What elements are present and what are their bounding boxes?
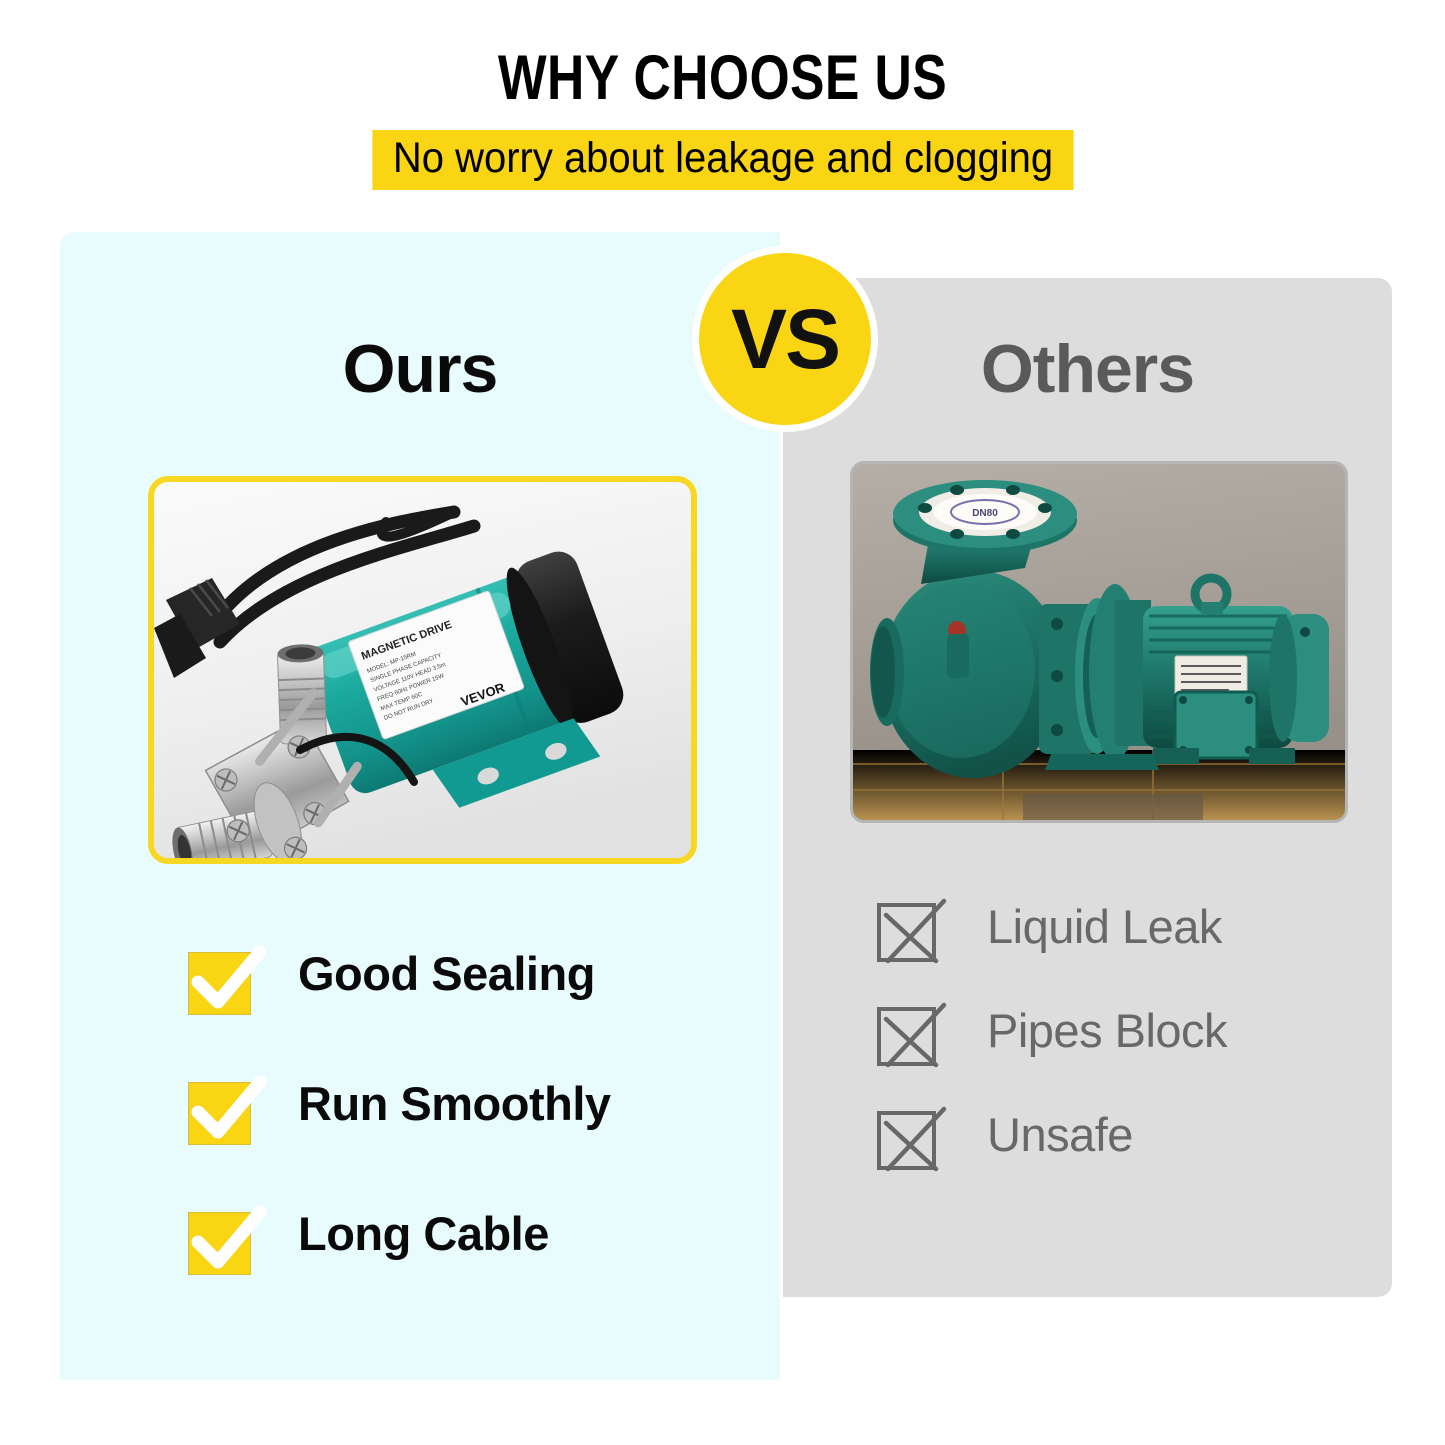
features-list-ours: Good Sealing Run Smoothly Long Cable [188,952,748,1342]
svg-text:DN80: DN80 [972,508,998,519]
features-list-others: Liquid Leak Pipes Block Unsafe [877,903,1337,1215]
list-item: Run Smoothly [188,1082,748,1212]
feature-label: Good Sealing [298,946,595,1001]
vs-badge: VS [692,246,878,432]
check-box-background [188,952,251,1015]
centrifugal-pump-illustration: DN80 [853,464,1345,820]
list-item: Pipes Block [877,1007,1337,1111]
list-item: Good Sealing [188,952,748,1082]
list-item: Unsafe [877,1111,1337,1215]
subtitle-container: No worry about leakage and clogging [0,130,1445,190]
feature-label: Long Cable [298,1206,549,1261]
product-photo-ours: MAGNETIC DRIVE MODEL: MP-15RM SINGLE PHA… [148,476,697,864]
list-item: Long Cable [188,1212,748,1342]
feature-label: Run Smoothly [298,1076,611,1131]
cross-box-outline [877,1007,936,1066]
magnetic-drive-pump-illustration: MAGNETIC DRIVE MODEL: MP-15RM SINGLE PHA… [154,482,691,858]
vs-label: VS [731,297,839,381]
check-box-background [188,1082,251,1145]
panel-title-ours: Ours [60,330,780,408]
cross-box-outline [877,903,936,962]
subtitle-highlight: No worry about leakage and clogging [372,130,1073,190]
feature-label: Unsafe [987,1107,1133,1162]
check-box-background [188,1212,251,1275]
cross-box-outline [877,1111,936,1170]
feature-label: Liquid Leak [987,899,1222,954]
list-item: Liquid Leak [877,903,1337,1007]
feature-label: Pipes Block [987,1003,1227,1058]
page-title: WHY CHOOSE US [130,42,1315,114]
product-photo-others: DN80 [850,461,1348,823]
header: WHY CHOOSE US No worry about leakage and… [0,0,1445,232]
